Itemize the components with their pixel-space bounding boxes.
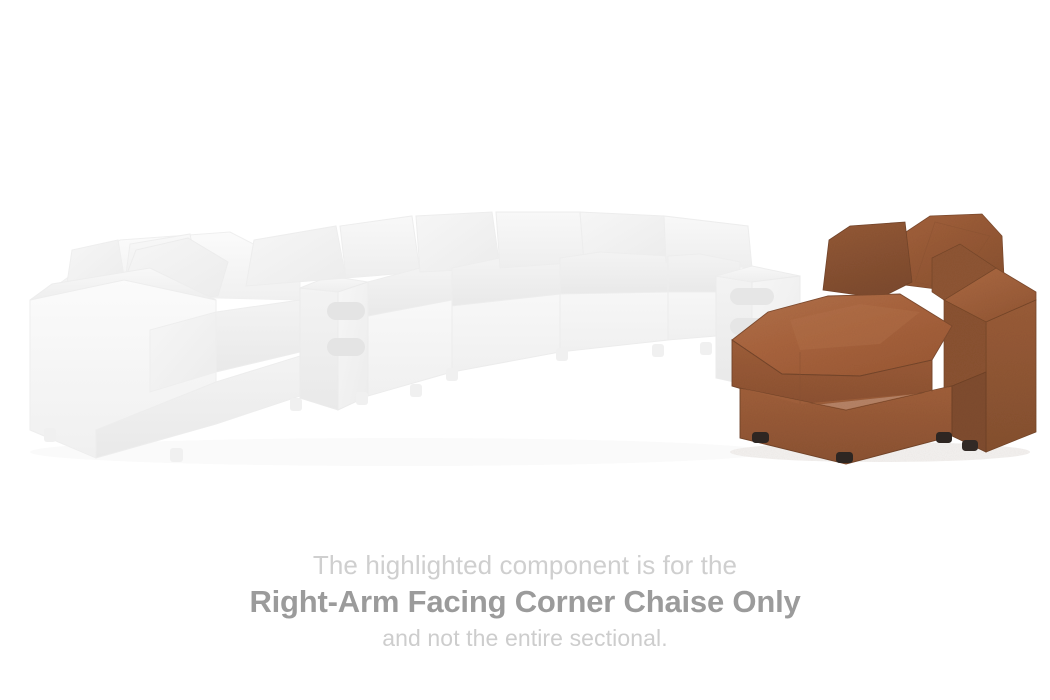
sectional-svg bbox=[0, 0, 1050, 520]
ghosted-sectional-group bbox=[30, 212, 800, 466]
chaise-backrest bbox=[823, 222, 912, 298]
ghost-foot bbox=[556, 348, 568, 361]
cupholder-slot bbox=[327, 338, 365, 356]
caption-lead-line: The highlighted component is for the bbox=[0, 548, 1050, 582]
ghost-foot bbox=[700, 342, 712, 355]
ghost-foot bbox=[410, 384, 422, 397]
ghost-foot bbox=[652, 344, 664, 357]
ghost-foot bbox=[44, 428, 56, 442]
product-highlight-stage: The highlighted component is for the Rig… bbox=[0, 0, 1050, 700]
caption-tail-line: and not the entire sectional. bbox=[0, 622, 1050, 654]
sectional-illustration bbox=[0, 0, 1050, 520]
chaise-foot bbox=[752, 432, 769, 443]
cupholder-slot bbox=[327, 302, 365, 320]
chaise-foot bbox=[936, 432, 952, 443]
chaise-foot bbox=[836, 452, 853, 463]
ghost-foot bbox=[170, 448, 183, 462]
ghost-foot bbox=[446, 368, 458, 381]
chaise-foot bbox=[962, 440, 978, 451]
caption-block: The highlighted component is for the Rig… bbox=[0, 548, 1050, 654]
chaise-arm-face bbox=[986, 300, 1036, 452]
ghost-foot bbox=[290, 398, 302, 411]
highlighted-raf-corner-chaise bbox=[730, 214, 1036, 464]
cupholder-slot bbox=[730, 288, 774, 305]
caption-component-name: Right-Arm Facing Corner Chaise Only bbox=[0, 582, 1050, 622]
module-console-left bbox=[300, 276, 368, 410]
ghost-foot bbox=[356, 392, 368, 405]
